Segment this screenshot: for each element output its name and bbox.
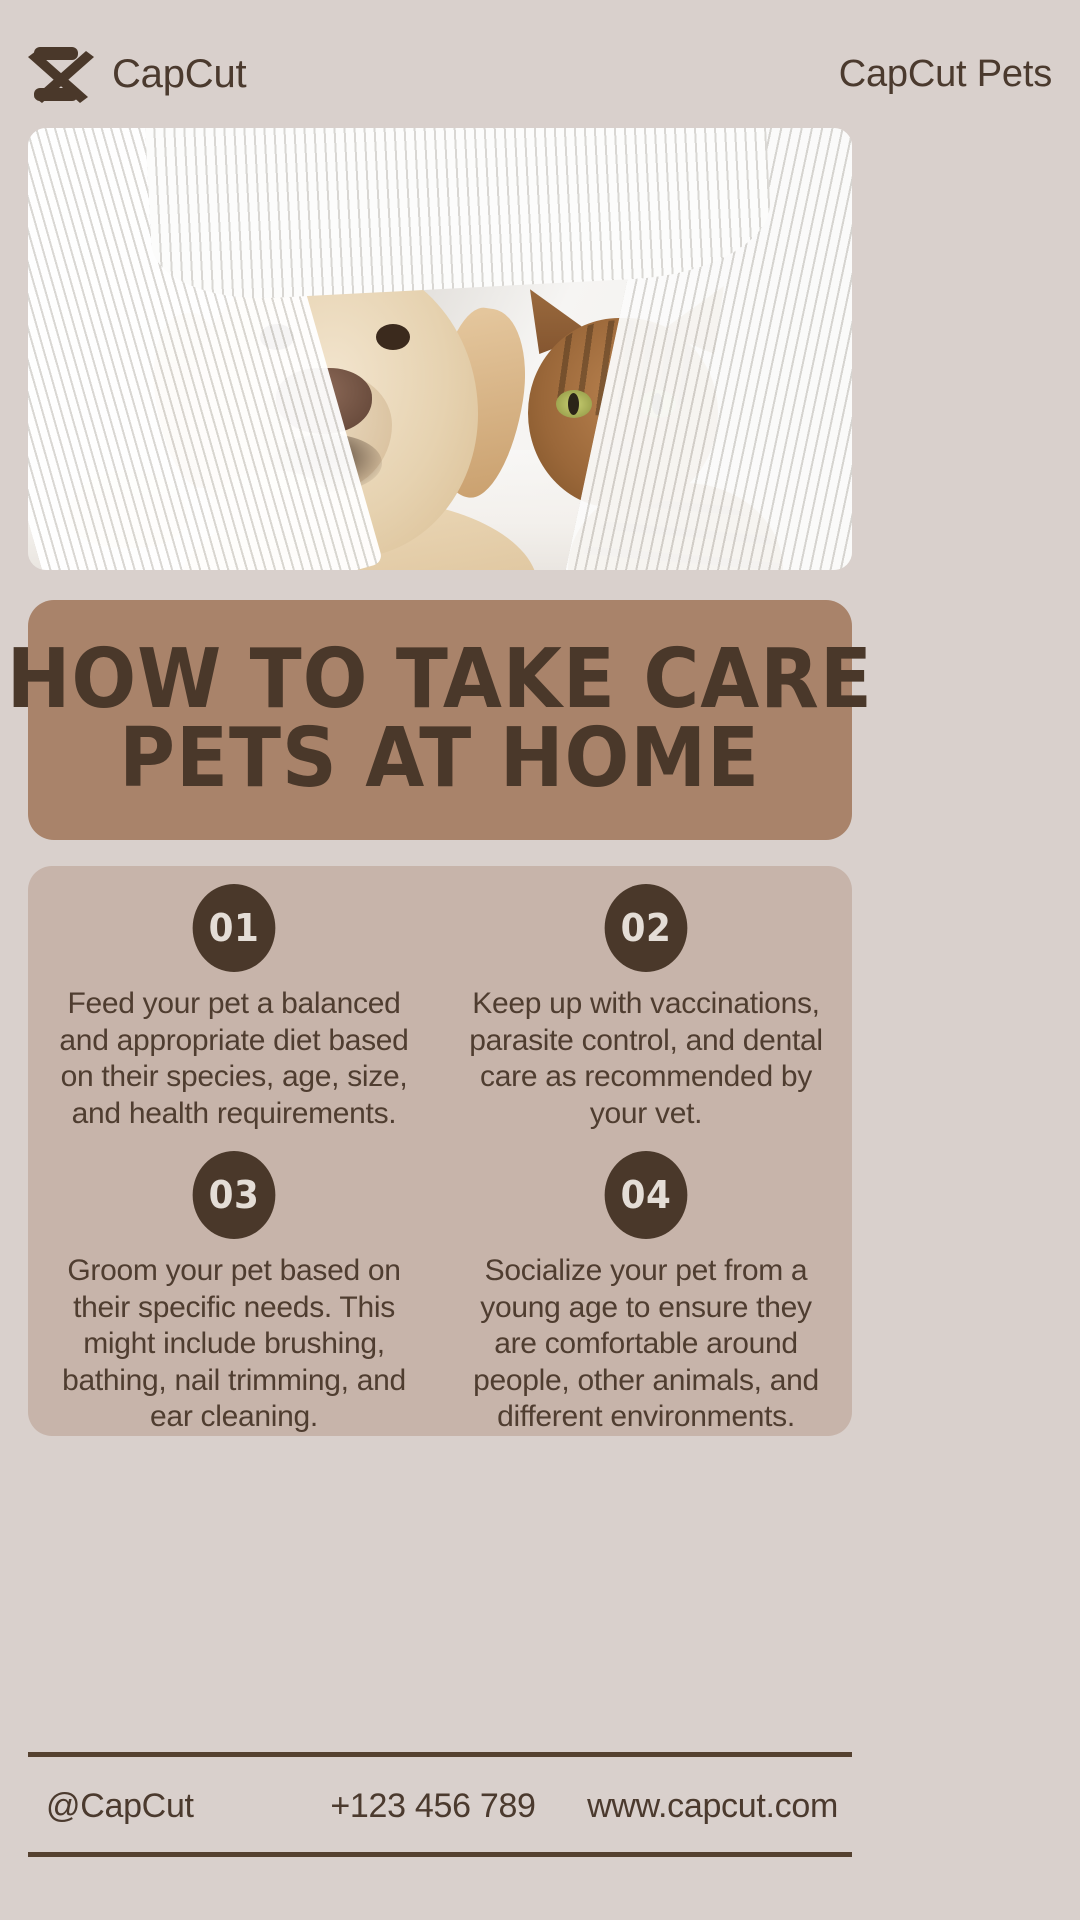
capcut-logo-icon xyxy=(28,45,94,103)
tip-number-badge: 02 xyxy=(605,884,688,972)
tip-number-badge: 01 xyxy=(193,884,276,972)
footer-website-url[interactable]: www.capcut.com xyxy=(568,1789,852,1823)
tip-number-badge: 03 xyxy=(193,1151,276,1239)
footer-divider-bottom xyxy=(28,1852,852,1857)
header-right-label: CapCut Pets xyxy=(839,55,1052,93)
page-title-line-1: HOW TO TAKE CARE xyxy=(7,641,873,720)
footer-social-handle[interactable]: @CapCut xyxy=(28,1789,298,1823)
tip-item-03: 03 Groom your pet based on their specifi… xyxy=(28,1133,440,1436)
tip-item-02: 02 Keep up with vaccinations, parasite c… xyxy=(440,866,852,1133)
tip-text: Groom your pet based on their specific n… xyxy=(46,1253,422,1436)
tip-text: Keep up with vaccinations, parasite cont… xyxy=(458,986,834,1132)
tip-text: Socialize your pet from a young age to e… xyxy=(458,1253,834,1436)
footer-divider-top xyxy=(28,1752,852,1757)
tip-text: Feed your pet a balanced and appropriate… xyxy=(46,986,422,1132)
dog-eye-right xyxy=(376,324,410,350)
tip-number-badge: 04 xyxy=(605,1151,688,1239)
page-title-line-2: PETS AT HOME xyxy=(120,720,761,799)
tip-item-04: 04 Socialize your pet from a young age t… xyxy=(440,1133,852,1436)
tip-item-01: 01 Feed your pet a balanced and appropri… xyxy=(28,866,440,1133)
hero-photo xyxy=(28,128,852,570)
brand-name: CapCut xyxy=(112,54,246,94)
page-header: CapCut CapCut Pets xyxy=(28,42,1052,106)
title-banner: HOW TO TAKE CARE PETS AT HOME xyxy=(28,600,852,840)
footer-phone-number[interactable]: +123 456 789 xyxy=(298,1789,568,1823)
tips-card: 01 Feed your pet a balanced and appropri… xyxy=(28,866,852,1436)
page-footer: @CapCut +123 456 789 www.capcut.com xyxy=(28,1770,852,1842)
brand-lockup[interactable]: CapCut xyxy=(28,45,246,103)
cat-pupil-left xyxy=(568,393,579,415)
